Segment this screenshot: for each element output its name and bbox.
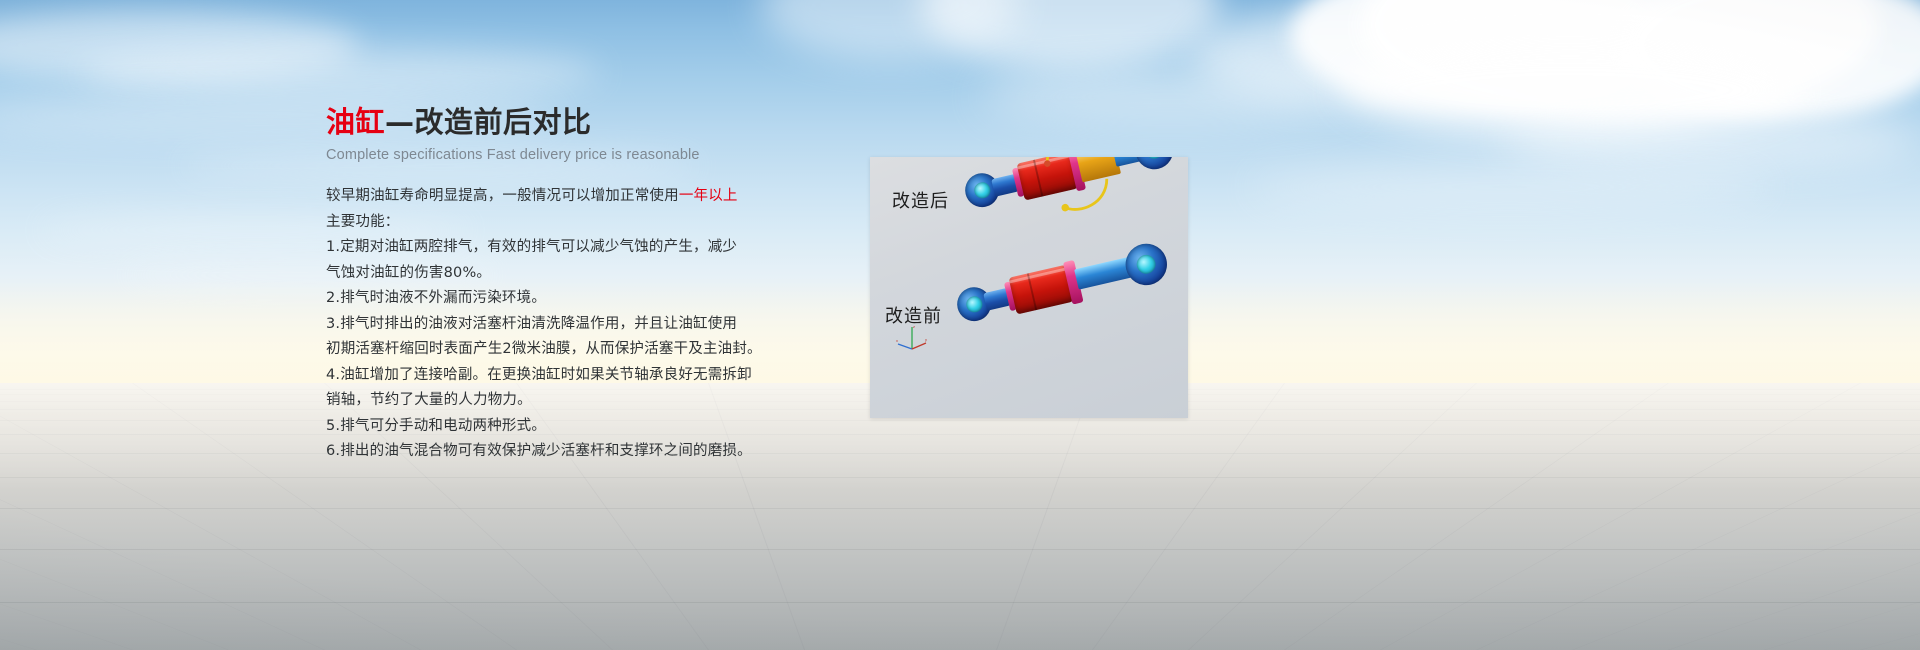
cloud-cumulus-icon bbox=[1250, 165, 1770, 209]
paving-joint-vertical bbox=[1284, 383, 1669, 650]
cloud-cumulus-icon bbox=[980, 70, 1360, 124]
paving-joint-vertical bbox=[0, 383, 325, 650]
paving-joint-vertical bbox=[1572, 383, 1920, 650]
paving-joint-vertical bbox=[996, 383, 1093, 650]
svg-text:x: x bbox=[896, 338, 898, 343]
paving-joint-horizontal bbox=[0, 420, 1920, 421]
paving-joint-vertical bbox=[1092, 383, 1285, 650]
cloud-cumulus-icon bbox=[1500, 110, 1920, 170]
feature-item-2: 2.排气时油液不外漏而污染环境。 bbox=[326, 286, 756, 312]
svg-text:y: y bbox=[925, 337, 927, 342]
paving-joint-horizontal bbox=[0, 477, 1920, 478]
feature-item-6: 6.排出的油气混合物可有效保护减少活塞杆和支撑环之间的磨损。 bbox=[326, 439, 756, 465]
label-after-modification: 改造后 bbox=[892, 187, 949, 213]
banner-copy: 油缸—改造前后对比 Complete specifications Fast d… bbox=[326, 104, 756, 465]
front-eye-bearing bbox=[1121, 240, 1171, 290]
feature-item-1-line-1: 1.定期对油缸两腔排气，有效的排气可以减少气蚀的产生，减少 bbox=[326, 235, 756, 261]
bore-hole bbox=[1144, 157, 1165, 161]
bore-hole bbox=[965, 295, 984, 314]
paving-joint-vertical bbox=[1188, 383, 1477, 650]
feature-item-3-line-1: 3.排气时排出的油液对活塞杆油清洗降温作用，并且让油缸使用 bbox=[326, 312, 756, 338]
paving-joint-vertical bbox=[1668, 383, 1920, 650]
page-subtitle: Complete specifications Fast delivery pr… bbox=[326, 147, 756, 163]
page-title-rest: —改造前后对比 bbox=[385, 105, 592, 139]
paving-joint-horizontal bbox=[0, 453, 1920, 454]
feature-item-4-line-1: 4.油缸增加了连接哈副。在更换油缸时如果关节轴承良好无需拆卸 bbox=[326, 363, 756, 389]
paving-joint-horizontal bbox=[0, 549, 1920, 550]
paving-joint-vertical bbox=[1380, 383, 1861, 650]
paving-joint-horizontal bbox=[0, 434, 1920, 435]
feature-item-5: 5.排气可分手动和电动两种形式。 bbox=[326, 414, 756, 440]
coordinate-axis-icon: z x y bbox=[895, 323, 929, 353]
product-comparison-panel: 改造后 改造前 z x y bbox=[870, 157, 1188, 418]
page-title: 油缸—改造前后对比 bbox=[326, 104, 756, 140]
bore-hole bbox=[973, 181, 992, 200]
paving-joint-vertical bbox=[0, 383, 133, 650]
intro-line-2: 主要功能： bbox=[326, 210, 756, 236]
feature-item-1-line-2: 气蚀对油缸的伤害80%。 bbox=[326, 261, 756, 287]
bore-hole bbox=[1135, 253, 1158, 276]
intro-line-1: 较早期油缸寿命明显提高，一般情况可以增加正常使用一年以上 bbox=[326, 184, 756, 210]
paved-ground bbox=[0, 383, 1920, 650]
paving-joint-vertical bbox=[0, 383, 229, 650]
feature-item-3-line-2: 初期活塞杆缩回时表面产生2微米油膜，从而保护活塞干及主油封。 bbox=[326, 337, 756, 363]
cloud-wisp-icon bbox=[80, 48, 600, 96]
paving-joint-horizontal bbox=[0, 602, 1920, 603]
banner-stage: 油缸—改造前后对比 Complete specifications Fast d… bbox=[0, 0, 1920, 650]
feature-text-block: 较早期油缸寿命明显提高，一般情况可以增加正常使用一年以上 主要功能： 1.定期对… bbox=[326, 184, 756, 465]
paving-joint-vertical bbox=[1476, 383, 1920, 650]
front-eye-bearing bbox=[1132, 157, 1177, 173]
intro-line-1-highlight: 一年以上 bbox=[679, 188, 738, 204]
feature-item-4-line-2: 销轴，节约了大量的人力物力。 bbox=[326, 388, 756, 414]
intro-line-1-text: 较早期油缸寿命明显提高，一般情况可以增加正常使用 bbox=[326, 188, 679, 204]
svg-text:z: z bbox=[913, 324, 915, 329]
page-title-accent: 油缸 bbox=[326, 105, 385, 139]
